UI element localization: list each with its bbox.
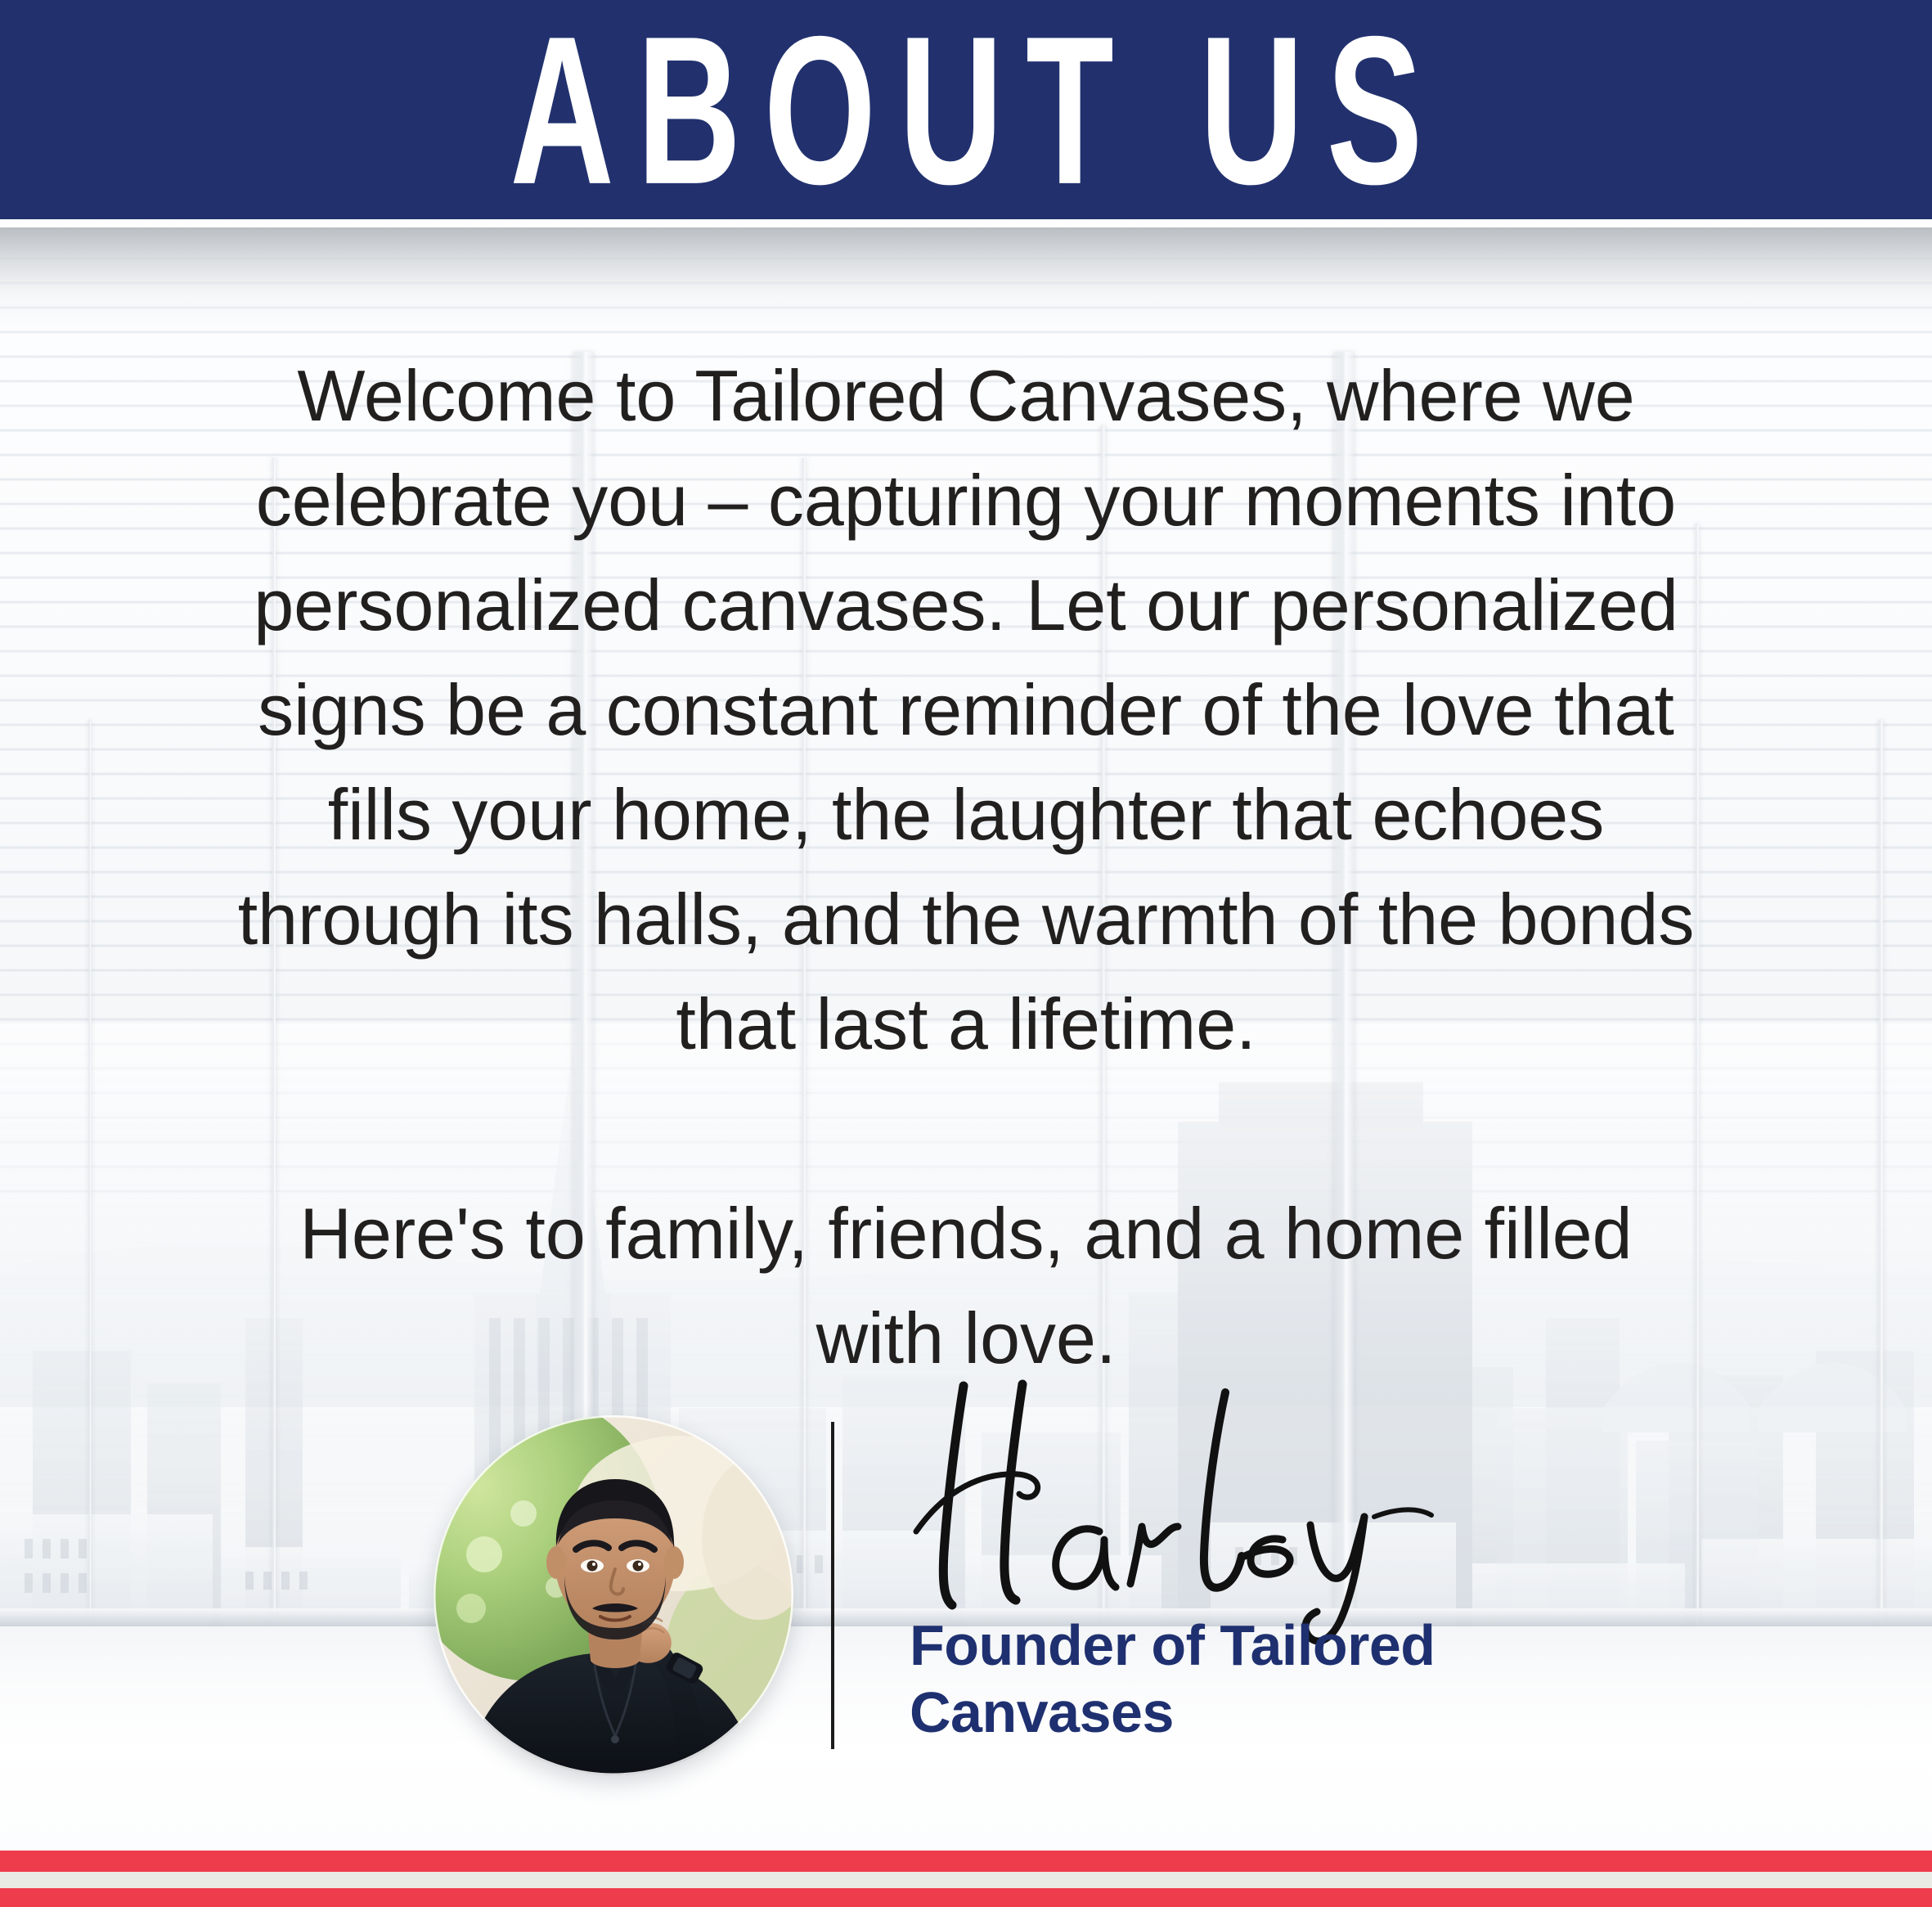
- footer-accent-bar-bottom: [0, 1888, 1932, 1907]
- header-shadow-band: [0, 227, 1932, 334]
- founder-role-line-1: Founder of Tailored: [910, 1612, 1531, 1679]
- about-paragraph-1: Welcome to Tailored Canvases, where we c…: [230, 344, 1702, 1077]
- paragraph-spacer: [230, 1077, 1702, 1181]
- about-us-poster: ABOUT US Welcome to Tailored Canvases, w…: [0, 0, 1932, 1907]
- footer-gap-bar: [0, 1872, 1932, 1888]
- founder-role-line-2: Canvases: [910, 1679, 1531, 1746]
- about-us-copy: Welcome to Tailored Canvases, where we c…: [230, 344, 1702, 1391]
- handwritten-signature: [885, 1379, 1507, 1649]
- page-title: ABOUT US: [487, 4, 1445, 215]
- avatar: [434, 1415, 793, 1775]
- footer-accent-bar-top: [0, 1851, 1932, 1872]
- about-paragraph-2: Here's to family, friends, and a home fi…: [230, 1181, 1702, 1391]
- signature-area: Founder of Tailored Canvases: [831, 1391, 1531, 1749]
- vertical-divider: [831, 1422, 834, 1749]
- founder-signature-block: Founder of Tailored Canvases: [0, 1391, 1932, 1775]
- page-header: ABOUT US: [0, 0, 1932, 219]
- founder-role-text: Founder of Tailored Canvases: [910, 1612, 1531, 1746]
